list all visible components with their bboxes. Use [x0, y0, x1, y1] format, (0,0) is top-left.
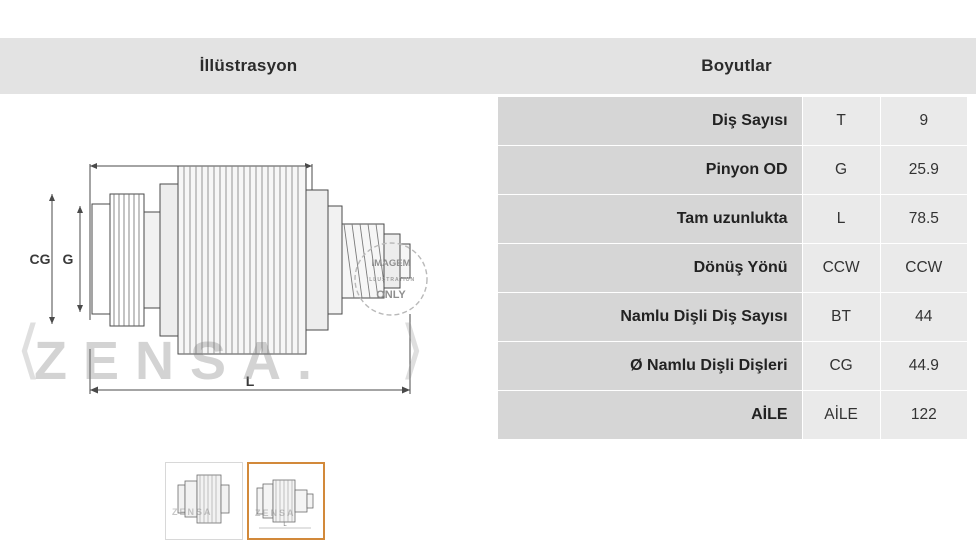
table-row: AİLE AİLE 122 [498, 391, 968, 440]
dimensions-table: Diş Sayısı T 9 Pinyon OD G 25.9 Tam uzun… [497, 96, 968, 440]
svg-text:IMAGEM: IMAGEM [371, 258, 410, 269]
row-label: Tam uzunlukta [498, 195, 803, 244]
section-header-bar: İllüstrasyon Boyutlar [0, 38, 976, 94]
table-row: Namlu Dişli Diş Sayısı BT 44 [498, 293, 968, 342]
row-code: AİLE [802, 391, 880, 440]
svg-text:ONLY: ONLY [376, 289, 406, 301]
thumbnail-2-watermark: ZENSA [255, 508, 296, 518]
row-label: Ø Namlu Dişli Dişleri [498, 342, 803, 391]
row-code: G [802, 146, 880, 195]
illustration-area: CG G L IMAGEM ILLUSTRATION ONLY ⟨ ⟩ ZENS… [0, 94, 497, 464]
svg-text:ILLUSTRATION: ILLUSTRATION [367, 277, 415, 283]
thumbnail-2[interactable]: L ZENSA [247, 462, 325, 540]
product-spec-page: İllüstrasyon Boyutlar [0, 0, 976, 558]
thumbnail-strip: ZENSA L [165, 462, 325, 540]
table-row: Diş Sayısı T 9 [498, 97, 968, 146]
svg-text:CG: CG [30, 251, 51, 267]
table-row: Dönüş Yönü CCW CCW [498, 244, 968, 293]
watermark-right-bracket: ⟩ [400, 312, 425, 387]
svg-text:L: L [283, 522, 287, 528]
thumbnail-1-watermark: ZENSA [172, 507, 213, 517]
table-row: Tam uzunlukta L 78.5 [498, 195, 968, 244]
row-label: Pinyon OD [498, 146, 803, 195]
row-value: 44.9 [880, 342, 967, 391]
row-label: Diş Sayısı [498, 97, 803, 146]
row-label: AİLE [498, 391, 803, 440]
thumbnail-1[interactable]: ZENSA [165, 462, 243, 540]
table-row: Pinyon OD G 25.9 [498, 146, 968, 195]
svg-text:L: L [246, 373, 255, 389]
row-value: 78.5 [880, 195, 967, 244]
svg-text:G: G [63, 251, 74, 267]
row-value: 9 [880, 97, 967, 146]
row-code: T [802, 97, 880, 146]
row-label: Dönüş Yönü [498, 244, 803, 293]
watermark-left-bracket: ⟨ [16, 312, 41, 387]
row-code: CCW [802, 244, 880, 293]
row-label: Namlu Dişli Diş Sayısı [498, 293, 803, 342]
illustration-only-stamp: IMAGEM ILLUSTRATION ONLY [352, 240, 430, 318]
dimensions-header-title: Boyutlar [497, 38, 976, 94]
row-code: BT [802, 293, 880, 342]
table-row: Ø Namlu Dişli Dişleri CG 44.9 [498, 342, 968, 391]
row-value: 122 [880, 391, 967, 440]
row-value: CCW [880, 244, 967, 293]
row-code: L [802, 195, 880, 244]
row-value: 25.9 [880, 146, 967, 195]
illustration-header-title: İllüstrasyon [0, 38, 497, 94]
row-code: CG [802, 342, 880, 391]
row-value: 44 [880, 293, 967, 342]
